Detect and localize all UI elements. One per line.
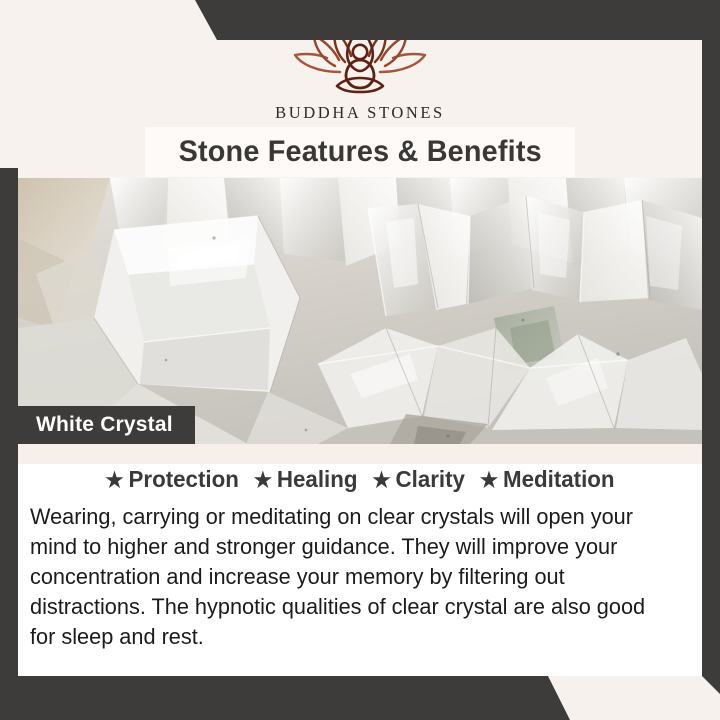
star-icon: ★ (372, 469, 390, 492)
content-top-fade (18, 444, 702, 464)
benefit-item: ★Protection (105, 466, 238, 492)
benefit-item: ★Healing (245, 466, 357, 492)
star-icon: ★ (105, 469, 123, 492)
description-text: Wearing, carrying or meditating on clear… (30, 502, 671, 652)
benefit-label: Protection (129, 466, 239, 492)
page-title: Stone Features & Benefits (178, 135, 541, 169)
frame-left-bar (0, 168, 18, 720)
benefit-label: Meditation (503, 466, 615, 492)
brand-wordmark: BUDDHA STONES (0, 103, 720, 123)
benefit-item: ★Meditation (471, 466, 614, 492)
frame-bottom-bar (0, 676, 720, 720)
infographic-card: BUDDHA STONES Stone Features & Benefits (0, 0, 720, 720)
star-icon: ★ (480, 469, 498, 492)
star-icon: ★ (254, 469, 272, 492)
crystal-photo (18, 178, 702, 444)
benefits-row: ★Protection ★Healing ★Clarity ★Meditatio… (28, 466, 691, 493)
benefit-item: ★Clarity (364, 466, 465, 492)
stone-name-label: White Crystal (36, 413, 173, 437)
benefit-label: Clarity (396, 466, 465, 492)
content-panel: ★Protection ★Healing ★Clarity ★Meditatio… (18, 444, 702, 676)
stone-name-badge: White Crystal (18, 406, 195, 444)
title-banner: Stone Features & Benefits (145, 127, 575, 177)
benefit-label: Healing (277, 466, 358, 492)
